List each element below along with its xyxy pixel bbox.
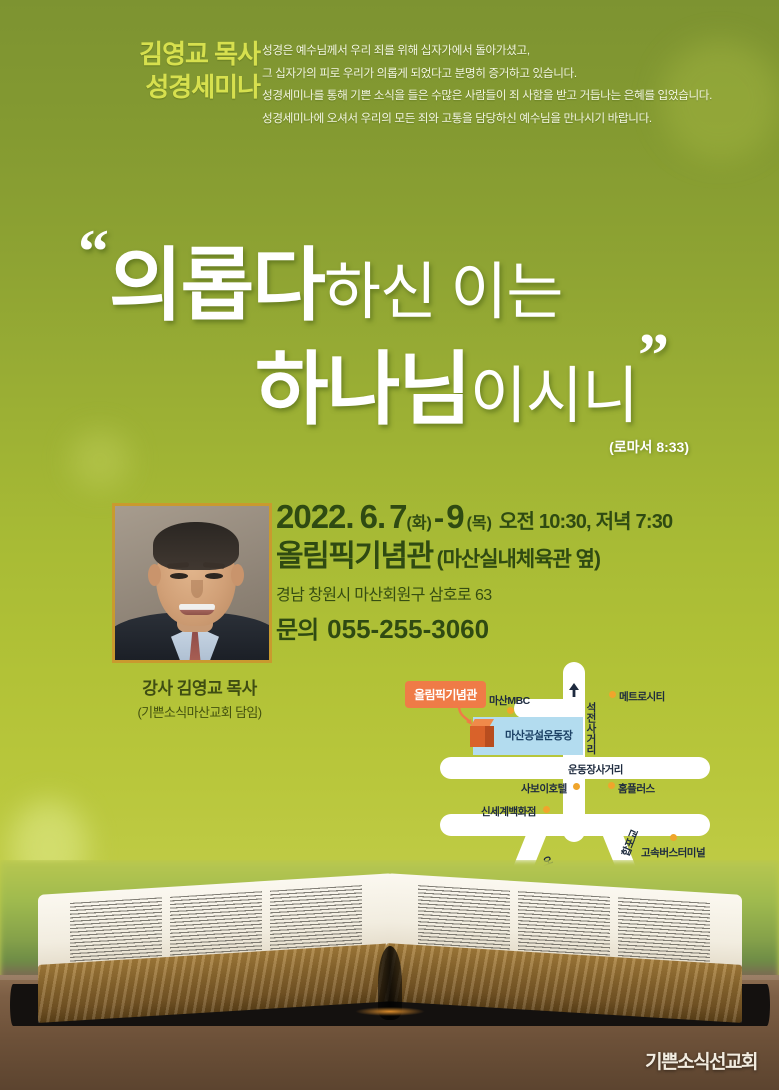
intro-paragraph: 성경은 예수님께서 우리 죄를 위해 십자가에서 돌아가셨고, 그 십자가의 피… [262,40,767,130]
map-label-seokjeon-intersection: 석전사거리 [584,702,599,755]
speaker-name: 강사 김영교 목사 [112,674,287,699]
map-dot-shinsegae [543,806,550,813]
organization-logo: 기쁜소식선교회 [645,1047,757,1074]
venue-building-marker [470,719,494,747]
speaker-block: 강사 김영교 목사 (기쁜소식마산교회 담임) [112,503,287,721]
bible-spine-glow [355,1007,425,1016]
bible-text-column [518,891,610,961]
open-bible [10,880,770,1020]
contact-label: 문의 [276,617,318,644]
event-day-end: 9 [446,498,463,535]
portrait-eye-left [170,573,188,579]
bible-page-left [38,875,394,1023]
event-day-end-weekday: (목) [464,515,492,532]
map-dot-savoy-hotel [573,783,580,790]
bible-text-column [170,891,262,961]
event-year: 2022. [276,498,354,535]
map-label-shinsegae: 신세계백화점 [481,804,536,819]
event-day-start: 7 [385,498,406,535]
close-quote-mark: ” [638,322,669,390]
event-venue-row: 올림픽기념관(마산실내체육관 옆) [276,542,746,572]
map-label-express-bus-terminal: 고속버스터미널 [641,845,705,860]
verse-phrase-isini: 이시니 [470,363,638,431]
map-label-savoy-hotel: 사보이호텔 [521,781,567,796]
event-times: 오전 10:30, 저녁 7:30 [492,511,672,533]
seminar-title-line1: 김영교 목사 [100,38,260,71]
speaker-portrait-image [115,506,269,660]
bible-text-column [618,897,710,967]
bible-photo: 기쁜소식선교회 [0,860,779,1090]
event-date-row: 2022.6.7(화)-9(목)오전 10:30, 저녁 7:30 [276,500,746,533]
verse-line-2: 하나님이시니” [255,325,669,441]
verse-word-god: 하나님 [255,347,470,435]
event-address: 경남 창원시 마산회원구 삼호로 63 [276,581,746,605]
seminar-title-line2: 성경세미나 [100,71,260,104]
open-quote-mark: “ [78,218,109,286]
contact-phone[interactable]: 055-255-3060 [318,614,489,644]
verse-word-righteous: 의롭다 [109,243,324,331]
speaker-photo-frame [112,503,272,663]
bible-text-column [70,897,162,967]
verse-reference: (로마서 8:33) [609,437,689,457]
portrait-ear-right [231,564,244,586]
event-details: 2022.6.7(화)-9(목)오전 10:30, 저녁 7:30 올림픽기념관… [276,500,746,643]
map-dot-metrocity [609,691,616,698]
event-day-start-weekday: (화) [406,515,431,532]
venue-callout-label[interactable]: 올림픽기념관 [405,681,486,708]
cube-right-face [485,726,494,747]
portrait-ear-left [148,564,161,586]
cube-left-face [470,726,485,747]
intro-line-2: 그 십자가의 피로 우리가 의롭게 되었다고 분명히 증거하고 있습니다. [262,63,767,86]
seminar-poster: 김영교 목사 성경세미나 성경은 예수님께서 우리 죄를 위해 십자가에서 돌아… [0,0,779,1090]
map-dot-express-bus-terminal [670,834,677,841]
intro-line-4: 성경세미나에 오셔서 우리의 모든 죄와 고통을 담당하신 예수님을 만나시기 … [262,108,767,131]
event-venue: 올림픽기념관 [276,540,433,573]
portrait-eye-right [205,573,223,579]
map-label-stadium-intersection: 운동장사거리 [568,762,623,777]
bible-text-column [270,885,362,955]
bible-text-column [418,885,510,955]
event-venue-note: (마산실내체육관 옆) [433,548,600,571]
map-label-masan-mbc: 마산MBC [489,693,530,708]
stadium-label: 마산공설운동장 [505,727,572,743]
event-contact-row: 문의055-255-3060 [276,616,746,643]
verse-phrase-hasin: 하신 이는 [324,259,563,327]
map-dot-masan-mbc [507,707,514,714]
speaker-caption: 강사 김영교 목사 (기쁜소식마산교회 담임) [112,674,287,721]
intro-line-1: 성경은 예수님께서 우리 죄를 위해 십자가에서 돌아가셨고, [262,40,767,63]
portrait-nose [191,580,203,598]
speaker-church: (기쁜소식마산교회 담임) [112,702,287,721]
north-arrow-icon [568,683,580,697]
bible-page-right [386,875,742,1023]
map-dot-homeplus [608,782,615,789]
portrait-mouth [179,604,215,615]
event-month: 6. [354,498,386,535]
seminar-title: 김영교 목사 성경세미나 [100,38,260,105]
portrait-hair [153,522,239,570]
event-date-dash: - [432,500,446,535]
map-label-metrocity: 메트로시티 [619,689,665,704]
intro-line-3: 성경세미나를 통해 기쁜 소식을 들은 수많은 사람들이 죄 사함을 받고 거듭… [262,85,767,108]
verse-line-1: “의롭다하신 이는 [78,221,562,337]
verse-block: “의롭다하신 이는 하나님이시니” (로마서 8:33) [0,205,779,465]
map-label-homeplus: 홈플러스 [618,781,655,796]
poster-header: 김영교 목사 성경세미나 성경은 예수님께서 우리 죄를 위해 십자가에서 돌아… [0,34,779,138]
